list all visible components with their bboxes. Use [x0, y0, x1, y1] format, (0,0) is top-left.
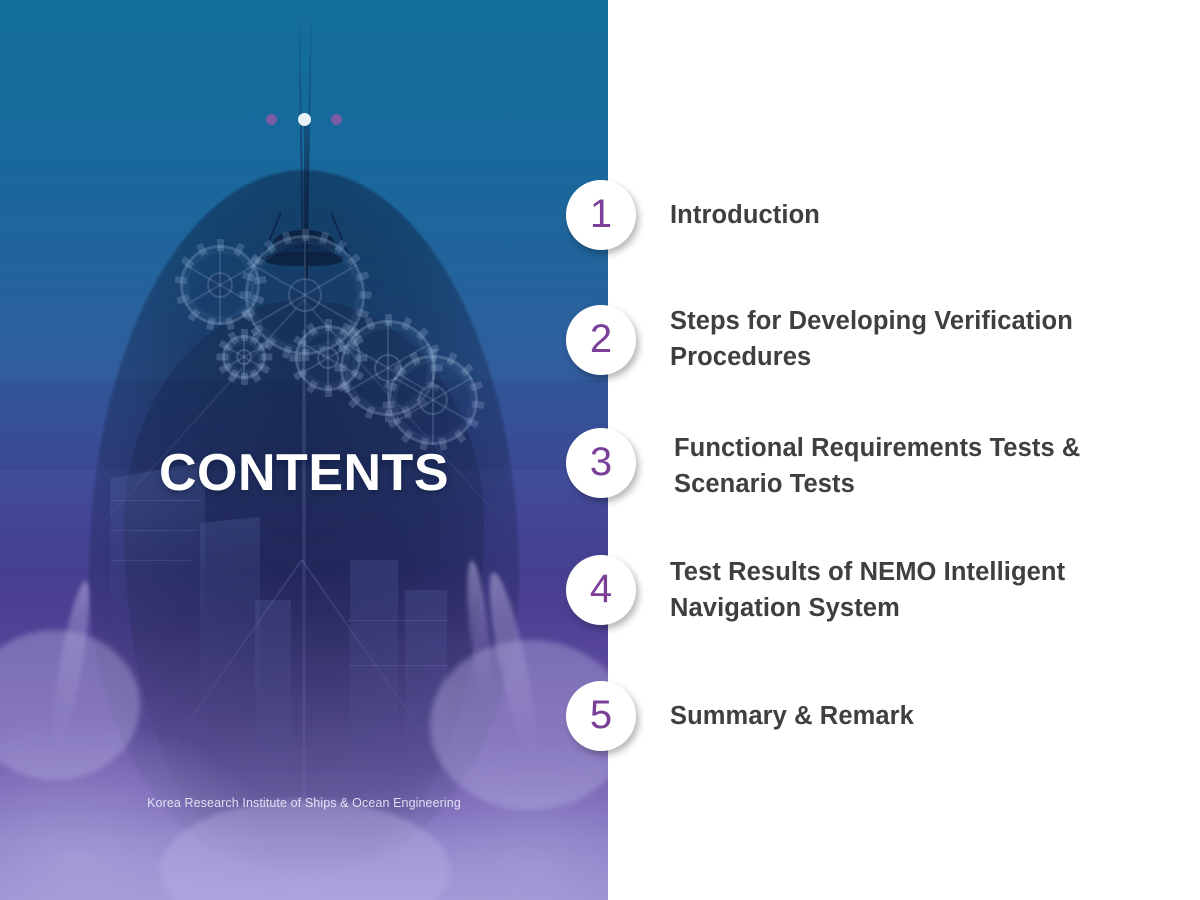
- dot-right-icon: [331, 114, 342, 125]
- dot-left-icon: [266, 114, 277, 125]
- toc-label-5[interactable]: Summary & Remark: [670, 698, 1190, 734]
- toc-number-3: 3: [590, 442, 612, 482]
- toc-number-2: 2: [590, 319, 612, 359]
- decorative-dots: [266, 112, 342, 126]
- toc-number-badge-2[interactable]: 2: [566, 305, 636, 375]
- toc-number-badge-3[interactable]: 3: [566, 428, 636, 498]
- toc-number-badge-1[interactable]: 1: [566, 180, 636, 250]
- presentation-slide: CONTENTS Korea Research Institute of Shi…: [0, 0, 1200, 900]
- page-title: CONTENTS: [0, 443, 608, 503]
- toc-number-5: 5: [590, 695, 612, 735]
- toc-number-4: 4: [590, 569, 612, 609]
- toc-label-2[interactable]: Steps for Developing Verification Proced…: [670, 303, 1190, 375]
- institute-credit: Korea Research Institute of Ships & Ocea…: [104, 796, 504, 811]
- toc-number-1: 1: [590, 194, 612, 234]
- toc-label-1[interactable]: Introduction: [670, 197, 1190, 233]
- left-image-panel: CONTENTS Korea Research Institute of Shi…: [0, 0, 608, 900]
- toc-number-badge-4[interactable]: 4: [566, 555, 636, 625]
- toc-label-3[interactable]: Functional Requirements Tests & Scenario…: [674, 430, 1194, 502]
- toc-number-badge-5[interactable]: 5: [566, 681, 636, 751]
- dot-center-icon: [298, 113, 311, 126]
- table-of-contents: 1 Introduction 2 Steps for Developing Ve…: [608, 0, 1200, 900]
- toc-label-4[interactable]: Test Results of NEMO Intelligent Navigat…: [670, 554, 1190, 626]
